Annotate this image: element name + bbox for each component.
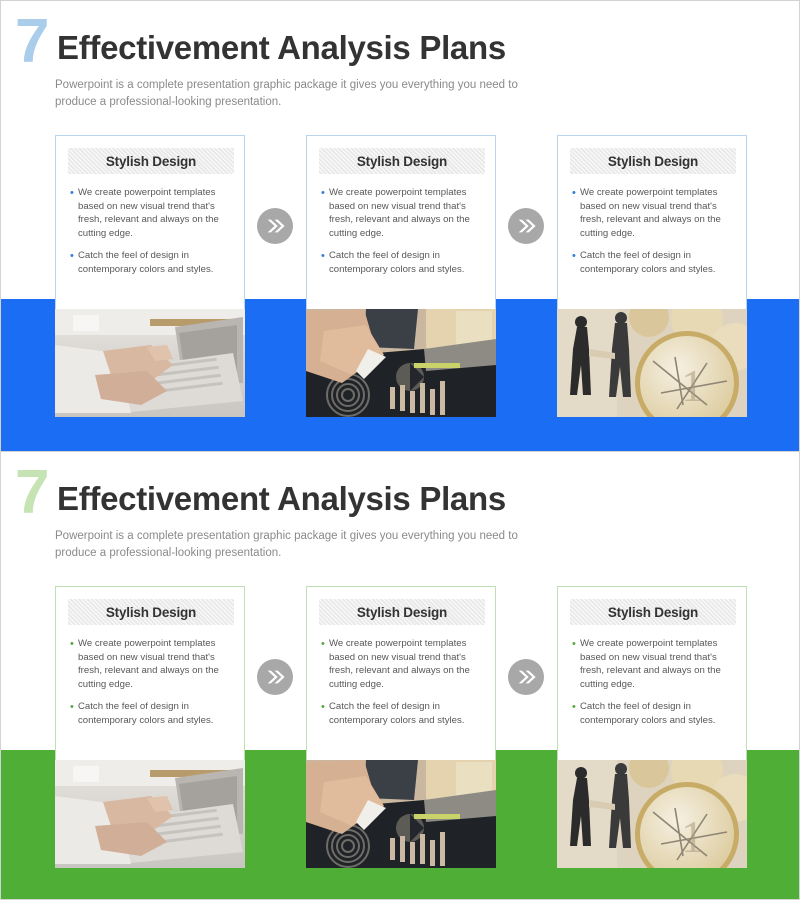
- bullet-text: Catch the feel of design in contemporary…: [329, 249, 489, 276]
- card-1[interactable]: Stylish Design • We create powerpoint te…: [55, 586, 245, 761]
- card-heading-text: Stylish Design: [106, 154, 196, 169]
- card-bullet-list: • We create powerpoint templates based o…: [572, 186, 740, 286]
- card-row: Stylish Design • We create powerpoint te…: [1, 1, 800, 451]
- bullet-dot-icon: •: [572, 700, 580, 727]
- bullet-dot-icon: •: [572, 637, 580, 691]
- card-bullet-list: • We create powerpoint templates based o…: [321, 637, 489, 737]
- slide-blue: 7 Effectivement Analysis Plans Powerpoin…: [1, 1, 800, 451]
- hand-stylus-tablet-photo: [306, 309, 496, 417]
- list-item: • Catch the feel of design in contempora…: [70, 700, 238, 727]
- connector-arrow-1: [257, 659, 293, 695]
- card-heading-text: Stylish Design: [106, 605, 196, 620]
- presentation-page: 7 Effectivement Analysis Plans Powerpoin…: [0, 0, 800, 900]
- handshake-figurines-euro-coin-photo: 1: [557, 309, 747, 417]
- svg-text:1: 1: [681, 811, 704, 862]
- card-header: Stylish Design: [570, 148, 736, 174]
- card-header: Stylish Design: [570, 599, 736, 625]
- card-1[interactable]: Stylish Design • We create powerpoint te…: [55, 135, 245, 310]
- double-chevron-right-icon: [515, 215, 537, 237]
- card-3[interactable]: Stylish Design • We create powerpoint te…: [557, 135, 747, 310]
- bullet-dot-icon: •: [321, 249, 329, 276]
- bullet-text: Catch the feel of design in contemporary…: [78, 700, 238, 727]
- card-heading-text: Stylish Design: [608, 154, 698, 169]
- list-item: • We create powerpoint templates based o…: [321, 637, 489, 691]
- card-row: Stylish Design • We create powerpoint te…: [1, 452, 800, 900]
- card-header: Stylish Design: [68, 148, 234, 174]
- card-heading-text: Stylish Design: [357, 605, 447, 620]
- bullet-dot-icon: •: [70, 700, 78, 727]
- slide-green: 7 Effectivement Analysis Plans Powerpoin…: [1, 451, 800, 900]
- card-bullet-list: • We create powerpoint templates based o…: [70, 637, 238, 737]
- card-3[interactable]: Stylish Design • We create powerpoint te…: [557, 586, 747, 761]
- list-item: • Catch the feel of design in contempora…: [70, 249, 238, 276]
- bullet-dot-icon: •: [572, 249, 580, 276]
- svg-text:1: 1: [681, 360, 704, 411]
- hands-typing-laptop-photo: [55, 760, 245, 868]
- card-2[interactable]: Stylish Design • We create powerpoint te…: [306, 586, 496, 761]
- bullet-dot-icon: •: [70, 186, 78, 240]
- handshake-figurines-euro-coin-photo: 1: [557, 760, 747, 868]
- double-chevron-right-icon: [264, 215, 286, 237]
- card-bullet-list: • We create powerpoint templates based o…: [321, 186, 489, 286]
- card-header: Stylish Design: [319, 148, 485, 174]
- bullet-dot-icon: •: [321, 700, 329, 727]
- double-chevron-right-icon: [515, 666, 537, 688]
- card-heading-text: Stylish Design: [357, 154, 447, 169]
- bullet-text: We create powerpoint templates based on …: [329, 186, 489, 240]
- bullet-text: Catch the feel of design in contemporary…: [329, 700, 489, 727]
- bullet-text: We create powerpoint templates based on …: [580, 186, 740, 240]
- card-header: Stylish Design: [319, 599, 485, 625]
- bullet-text: Catch the feel of design in contemporary…: [580, 249, 740, 276]
- bullet-text: We create powerpoint templates based on …: [78, 637, 238, 691]
- double-chevron-right-icon: [264, 666, 286, 688]
- list-item: • We create powerpoint templates based o…: [572, 637, 740, 691]
- bullet-dot-icon: •: [572, 186, 580, 240]
- list-item: • We create powerpoint templates based o…: [572, 186, 740, 240]
- card-header: Stylish Design: [68, 599, 234, 625]
- connector-arrow-2: [508, 208, 544, 244]
- card-heading-text: Stylish Design: [608, 605, 698, 620]
- hands-typing-laptop-photo: [55, 309, 245, 417]
- bullet-dot-icon: •: [70, 637, 78, 691]
- bullet-dot-icon: •: [70, 249, 78, 276]
- list-item: • Catch the feel of design in contempora…: [321, 700, 489, 727]
- list-item: • Catch the feel of design in contempora…: [572, 700, 740, 727]
- list-item: • We create powerpoint templates based o…: [70, 186, 238, 240]
- list-item: • Catch the feel of design in contempora…: [321, 249, 489, 276]
- bullet-dot-icon: •: [321, 637, 329, 691]
- bullet-text: We create powerpoint templates based on …: [329, 637, 489, 691]
- bullet-text: We create powerpoint templates based on …: [580, 637, 740, 691]
- hand-stylus-tablet-photo: [306, 760, 496, 868]
- connector-arrow-1: [257, 208, 293, 244]
- list-item: • We create powerpoint templates based o…: [321, 186, 489, 240]
- card-bullet-list: • We create powerpoint templates based o…: [572, 637, 740, 737]
- bullet-text: Catch the feel of design in contemporary…: [580, 700, 740, 727]
- card-bullet-list: • We create powerpoint templates based o…: [70, 186, 238, 286]
- bullet-text: We create powerpoint templates based on …: [78, 186, 238, 240]
- bullet-text: Catch the feel of design in contemporary…: [78, 249, 238, 276]
- bullet-dot-icon: •: [321, 186, 329, 240]
- card-2[interactable]: Stylish Design • We create powerpoint te…: [306, 135, 496, 310]
- list-item: • We create powerpoint templates based o…: [70, 637, 238, 691]
- list-item: • Catch the feel of design in contempora…: [572, 249, 740, 276]
- connector-arrow-2: [508, 659, 544, 695]
